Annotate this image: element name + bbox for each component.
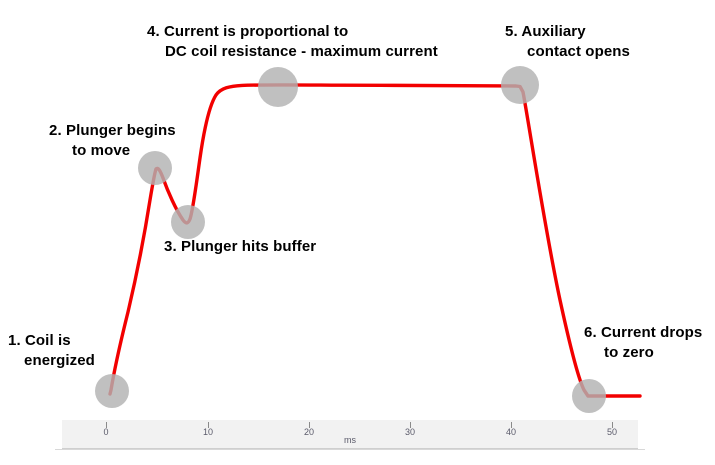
- annotation-5-line-1: 5. Auxiliary: [505, 23, 586, 40]
- marker-1-coil-energized: [95, 374, 129, 408]
- axis-baseline: [55, 449, 645, 450]
- marker-6-current-drops-to-zero: [572, 379, 606, 413]
- annotation-3-line-1: 3. Plunger hits buffer: [164, 238, 316, 255]
- x-axis-title: ms: [62, 435, 638, 445]
- x-axis: ms 01020304050: [62, 420, 638, 449]
- marker-3-plunger-hits-buffer: [171, 205, 205, 239]
- annotation-6-line-2: to zero: [584, 343, 702, 363]
- annotation-4-maximum-current: 4. Current is proportional to DC coil re…: [147, 22, 438, 62]
- annotation-2-line-1: 2. Plunger begins: [49, 122, 176, 139]
- marker-5-auxiliary-contact-opens: [501, 66, 539, 104]
- current-waveform-figure: 1. Coil is energized 2. Plunger begins t…: [0, 0, 715, 465]
- x-axis-tick-label-30: 30: [405, 427, 415, 437]
- x-axis-tick-label-10: 10: [203, 427, 213, 437]
- annotation-3-plunger-hits-buffer: 3. Plunger hits buffer: [164, 237, 316, 257]
- x-axis-tick-label-0: 0: [103, 427, 108, 437]
- annotation-1-line-2: energized: [8, 351, 95, 371]
- x-axis-tick-label-50: 50: [607, 427, 617, 437]
- annotation-5-line-2: contact opens: [505, 42, 630, 62]
- annotation-5-auxiliary-contact-opens: 5. Auxiliary contact opens: [505, 22, 630, 62]
- annotation-2-plunger-begins-to-move: 2. Plunger begins to move: [49, 121, 176, 161]
- x-axis-tick-label-40: 40: [506, 427, 516, 437]
- x-axis-tick-label-20: 20: [304, 427, 314, 437]
- annotation-4-line-1: 4. Current is proportional to: [147, 23, 348, 40]
- annotation-4-line-2: DC coil resistance - maximum current: [147, 42, 438, 62]
- annotation-1-line-1: 1. Coil is: [8, 332, 71, 349]
- annotation-1-coil-energized: 1. Coil is energized: [8, 331, 95, 371]
- annotation-6-current-drops-to-zero: 6. Current drops to zero: [584, 323, 702, 363]
- marker-4-maximum-current: [258, 67, 298, 107]
- annotation-2-line-2: to move: [49, 141, 176, 161]
- annotation-6-line-1: 6. Current drops: [584, 324, 702, 341]
